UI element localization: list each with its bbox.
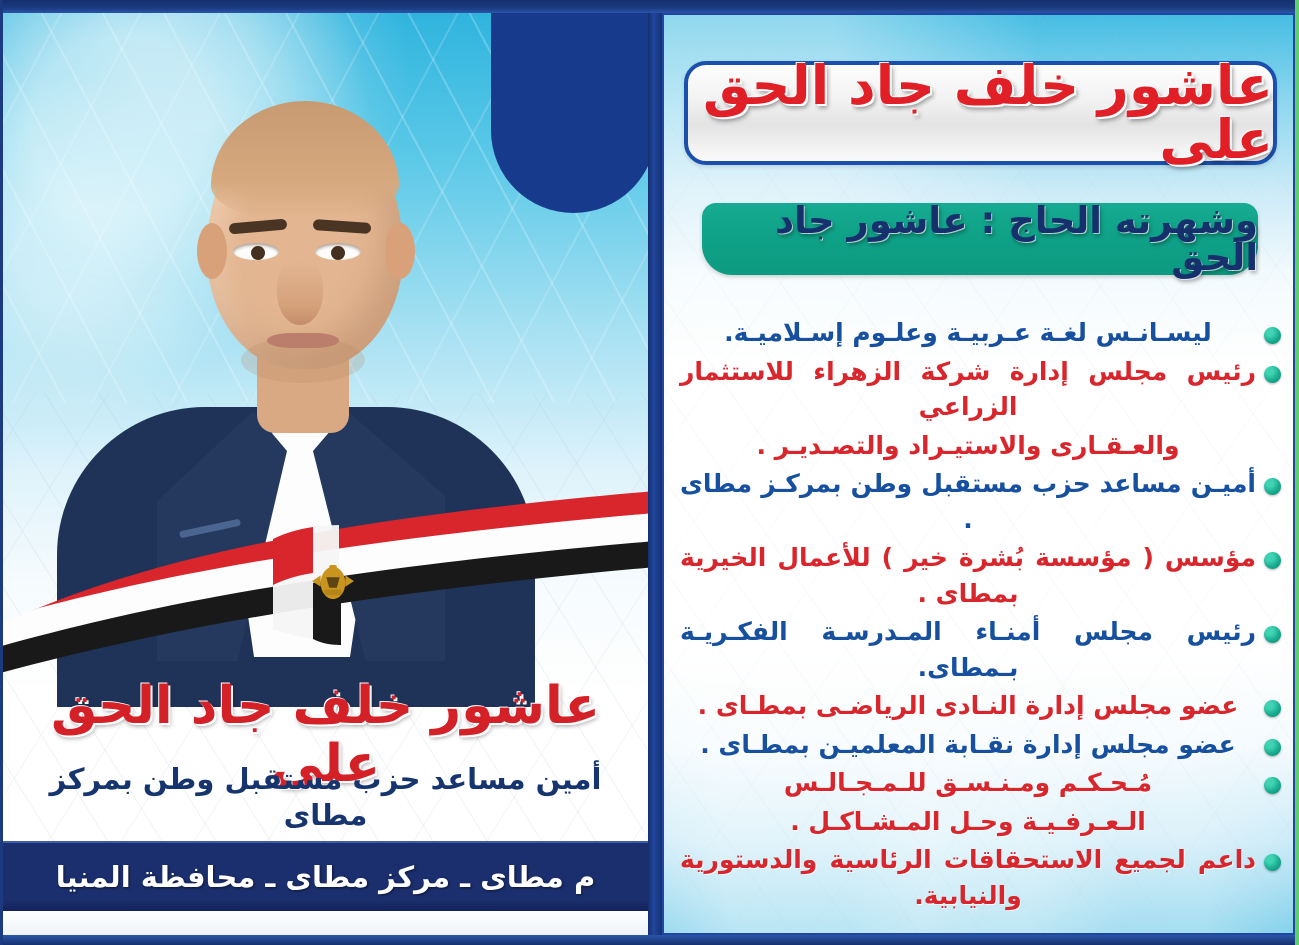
credential-text: أميـن مساعد حزب مستقبل وطن بمركـز مطاى . [680,466,1256,537]
credentials-list: ليسـانـس لغـة عـربيـة وعلـوم إسـلاميـة.ر… [680,315,1281,916]
credential-text: رئيس مجلس إدارة شركة الزهراء للاستثمار ا… [680,354,1256,425]
credential-text: مُـحـكـم ومـنـسـق للـمـجـالـس [680,765,1256,801]
left-candidate-role: أمين مساعد حزب مستقبل وطن بمركز مطاى [3,761,648,834]
credential-item: داعم لجميع الاستحقاقات الرئاسية والدستور… [680,842,1281,913]
portrait-ear-right [385,223,415,279]
credential-item: رئيس مجلس إدارة شركة الزهراء للاستثمار ا… [680,354,1281,425]
credential-item: أميـن مساعد حزب مستقبل وطن بمركـز مطاى . [680,466,1281,537]
credential-item: عضو مجلس إدارة النـادى الرياضـى بمطـاى . [680,688,1281,724]
credential-item: مؤسس ( مؤسسة بُشرة خير ) للأعمال الخيرية… [680,540,1281,611]
candidate-portrait [61,55,531,695]
bullet-icon [1264,777,1281,794]
right-panel: عاشور خلف جاد الحق على وشهرته الحاج : عا… [662,13,1295,935]
credential-text: الـعـرفـيـة وحـل المـشـاكـل . [680,804,1256,840]
credential-item: والعـقـارى والاستيـراد والتصـديـر . [680,428,1281,464]
title-banner: عاشور خلف جاد الحق على [684,61,1277,165]
credential-text: ليسـانـس لغـة عـربيـة وعلـوم إسـلاميـة. [680,315,1256,351]
nickname-banner-text: وشهرته الحاج : عاشور جاد الحق [702,202,1258,276]
portrait-hair [211,101,399,219]
credential-item: ليسـانـس لغـة عـربيـة وعلـوم إسـلاميـة. [680,315,1281,351]
bullet-icon [1264,626,1281,643]
title-banner-text: عاشور خلف جاد الحق على [688,59,1273,167]
portrait-mouth [267,333,339,348]
portrait-pupil-right [331,246,345,260]
portrait-ear-left [197,223,227,279]
bullet-icon [1264,739,1281,756]
panel-divider [648,13,662,935]
left-panel: عاشور خلف جاد الحق على أمين مساعد حزب مس… [3,13,648,935]
frame-bottom-border [0,935,1299,945]
credential-text: رئيس مجلس أمنـاء المـدرسـة الفكـريـة بـم… [680,614,1256,685]
bullet-icon [1264,478,1281,495]
credential-text: عضو مجلس إدارة النـادى الرياضـى بمطـاى . [680,688,1256,724]
credential-text: عضو مجلس إدارة نقـابة المعلميـن بمطـاى . [680,727,1256,763]
bullet-icon [1264,366,1281,383]
bullet-icon [1264,854,1281,871]
frame-left-border [0,0,3,945]
portrait-nose [277,261,323,325]
credential-item: الـعـرفـيـة وحـل المـشـاكـل . [680,804,1281,840]
frame-right-green-stripe [1295,0,1299,945]
frame-top-border [0,0,1299,13]
credential-item: رئيس مجلس أمنـاء المـدرسـة الفكـريـة بـم… [680,614,1281,685]
credential-text: والعـقـارى والاستيـراد والتصـديـر . [680,428,1256,464]
nickname-banner: وشهرته الحاج : عاشور جاد الحق [702,203,1258,275]
credential-item: عضو مجلس إدارة نقـابة المعلميـن بمطـاى . [680,727,1281,763]
credential-item: مُـحـكـم ومـنـسـق للـمـجـالـس [680,765,1281,801]
portrait-pupil-left [251,246,265,260]
bullet-icon [1264,700,1281,717]
bullet-icon [1264,552,1281,569]
left-bottom-strip [3,911,648,935]
address-bar: م مطاى ـ مركز مطاى ـ محافظة المنيا [3,841,648,911]
credential-text: داعم لجميع الاستحقاقات الرئاسية والدستور… [680,842,1256,913]
address-bar-text: م مطاى ـ مركز مطاى ـ محافظة المنيا [56,860,595,894]
bullet-icon [1264,327,1281,344]
campaign-poster: عاشور خلف جاد الحق على أمين مساعد حزب مس… [0,0,1299,945]
credential-text: مؤسس ( مؤسسة بُشرة خير ) للأعمال الخيرية… [680,540,1256,611]
